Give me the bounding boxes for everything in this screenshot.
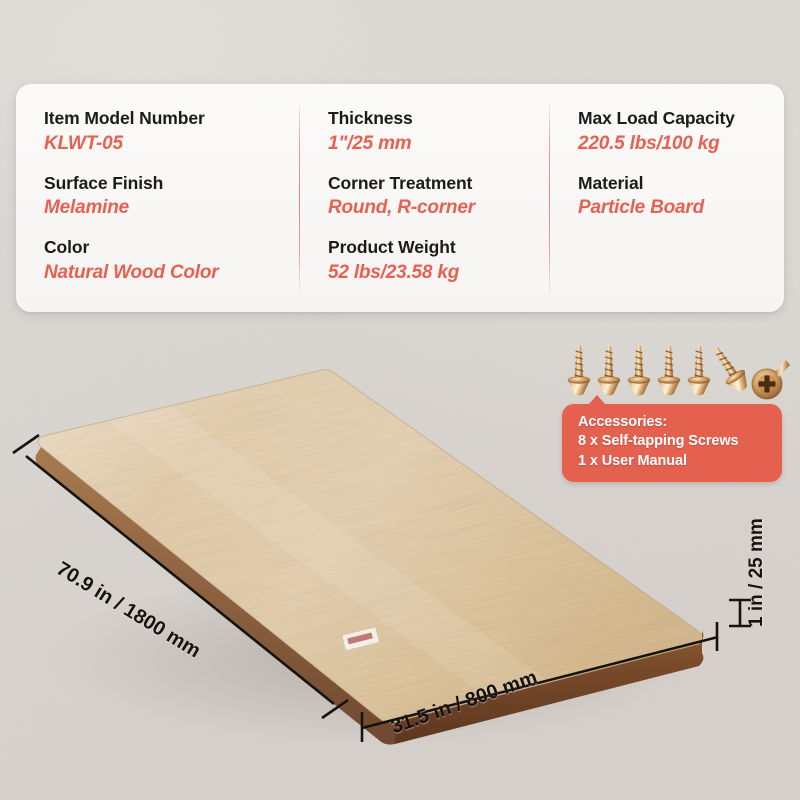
specification-card: Item Model Number KLWT-05 Surface Finish… <box>16 84 784 312</box>
spec-value: 220.5 lbs/100 kg <box>578 132 784 157</box>
accessories-line-1: 8 x Self-tapping Screws <box>578 432 770 451</box>
spec-label: Corner Treatment <box>328 173 550 195</box>
spec-label: Max Load Capacity <box>578 108 784 130</box>
spec-label: Color <box>44 237 300 259</box>
spec-column-1: Item Model Number KLWT-05 Surface Finish… <box>16 84 300 312</box>
spec-item-material: Material Particle Board <box>578 173 784 222</box>
spec-value: Melamine <box>44 196 300 221</box>
spec-value: Round, R-corner <box>328 196 550 221</box>
screw-icon-4 <box>658 346 680 396</box>
screw-icon-2 <box>598 346 620 396</box>
product-infographic: Item Model Number KLWT-05 Surface Finish… <box>0 0 800 800</box>
dimension-tick-length-start <box>13 435 39 453</box>
spec-value: 1"/25 mm <box>328 132 550 157</box>
spec-value: Natural Wood Color <box>44 261 300 286</box>
spec-label: Product Weight <box>328 237 550 259</box>
screw-icon-3 <box>628 346 650 396</box>
spec-item-max-load-capacity: Max Load Capacity 220.5 lbs/100 kg <box>578 108 784 157</box>
accessories-line-2: 1 x User Manual <box>578 452 770 471</box>
dimension-label-thickness: 1 in / 25 mm <box>746 518 768 627</box>
spec-item-product-weight: Product Weight 52 lbs/23.58 kg <box>328 237 550 286</box>
spec-label: Surface Finish <box>44 173 300 195</box>
screw-icon-5 <box>688 346 710 396</box>
screw-icon-tilted <box>707 343 753 396</box>
spec-item-model: Item Model Number KLWT-05 <box>44 108 300 157</box>
spec-value: KLWT-05 <box>44 132 300 157</box>
spec-column-3: Max Load Capacity 220.5 lbs/100 kg Mater… <box>550 84 784 312</box>
spec-label: Item Model Number <box>44 108 300 130</box>
spec-item-color: Color Natural Wood Color <box>44 237 300 286</box>
spec-item-surface-finish: Surface Finish Melamine <box>44 173 300 222</box>
spec-item-corner-treatment: Corner Treatment Round, R-corner <box>328 173 550 222</box>
spec-value: 52 lbs/23.58 kg <box>328 261 550 286</box>
spec-label: Material <box>578 173 784 195</box>
screw-icon-head-on <box>752 360 790 399</box>
spec-item-thickness: Thickness 1"/25 mm <box>328 108 550 157</box>
spec-label: Thickness <box>328 108 550 130</box>
accessories-title: Accessories: <box>578 413 770 432</box>
spec-column-2: Thickness 1"/25 mm Corner Treatment Roun… <box>300 84 550 312</box>
accessories-callout: Accessories: 8 x Self-tapping Screws 1 x… <box>562 404 782 482</box>
screw-icon-1 <box>568 346 590 396</box>
spec-value: Particle Board <box>578 196 784 221</box>
